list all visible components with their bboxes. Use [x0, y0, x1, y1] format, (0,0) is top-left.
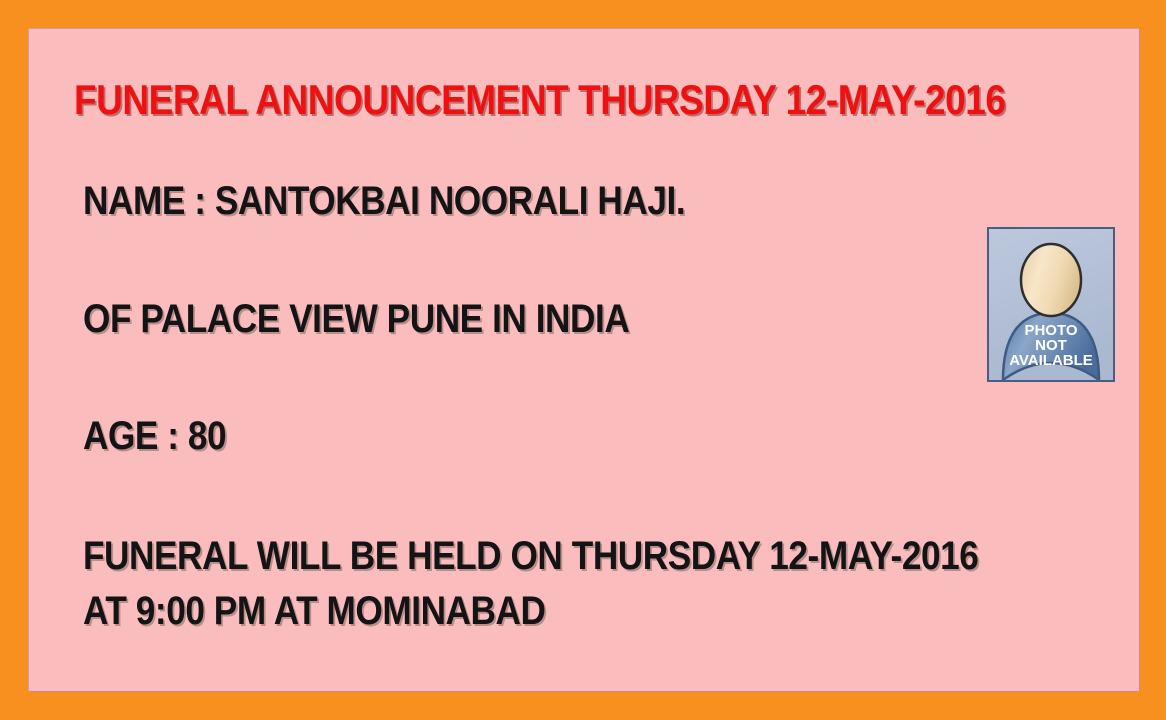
- deceased-name-line: NAME : SANTOKBAI NOORALI HAJI.: [83, 179, 685, 223]
- person-silhouette-icon: PHOTO NOT AVAILABLE: [989, 229, 1113, 380]
- page-title: FUNERAL ANNOUNCEMENT THURSDAY 12-MAY-201…: [74, 77, 1005, 123]
- funeral-date-line: FUNERAL WILL BE HELD ON THURSDAY 12-MAY-…: [83, 534, 978, 578]
- announcement-card: FUNERAL ANNOUNCEMENT THURSDAY 12-MAY-201…: [28, 28, 1140, 692]
- deceased-address-line: OF PALACE VIEW PUNE IN INDIA: [83, 297, 629, 341]
- photo-placeholder: PHOTO NOT AVAILABLE: [987, 227, 1115, 382]
- announcement-orange-frame: FUNERAL ANNOUNCEMENT THURSDAY 12-MAY-201…: [0, 0, 1166, 720]
- photo-caption-line-3: AVAILABLE: [1009, 352, 1093, 369]
- funeral-venue-line: AT 9:00 PM AT MOMINABAD: [83, 589, 545, 633]
- deceased-age-line: AGE : 80: [83, 414, 226, 458]
- person-head-shape: [1021, 244, 1081, 316]
